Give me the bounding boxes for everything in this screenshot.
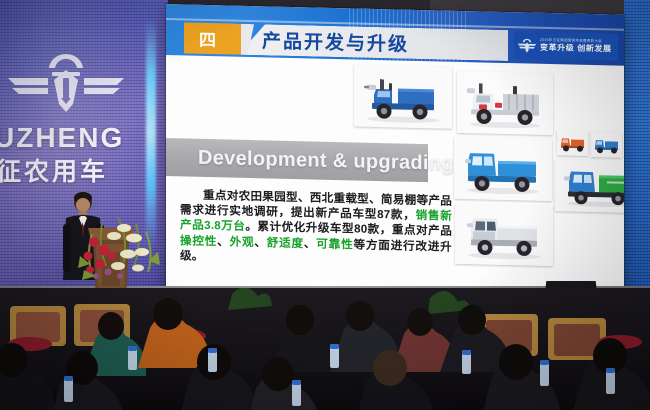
body-text-highlight: 舒适度	[267, 236, 304, 250]
banner-english-text: UZHENG	[0, 122, 124, 154]
right-led-panel	[624, 0, 650, 300]
wuzheng-wings-logo	[6, 52, 126, 114]
body-text-normal: 、	[304, 237, 316, 250]
photo-white-red-tanker-three-wheeler	[457, 71, 553, 135]
audience-silhouettes	[0, 288, 650, 410]
floral-arrangement	[72, 212, 164, 282]
body-text-highlight: 可靠性	[316, 237, 353, 251]
banner-chinese-text: 征农用车	[0, 152, 108, 188]
photo-blue-cab-cargo-three-wheeler	[454, 137, 552, 201]
eagle-wings-icon	[517, 37, 537, 53]
body-text-highlight: 外观	[230, 235, 255, 249]
photo-white-flatbed-three-wheeler	[455, 204, 553, 266]
body-text-normal: 、	[217, 235, 229, 248]
conference-photo: UZHENG 征农用车 四 产品开发与升级	[0, 0, 650, 410]
slide-content: 四 产品开发与升级 2016年五征集团营销年会暨表彰大会 变革升	[166, 4, 624, 307]
event-logo-texts: 2016年五征集团营销年会暨表彰大会 变革升级 创新发展	[540, 39, 612, 54]
body-text-highlight: 操控性	[180, 234, 217, 248]
photo-blue-dump-three-wheeler	[354, 64, 452, 128]
photo-blue-mini-truck-thumb	[591, 131, 622, 158]
section-number-chip: 四	[184, 22, 232, 54]
section-number-text: 四	[199, 26, 217, 51]
audience-seating-area	[0, 288, 650, 410]
projection-screen: 四 产品开发与升级 2016年五征集团营销年会暨表彰大会 变革升	[166, 4, 624, 307]
photo-green-dump-three-wheeler	[555, 159, 624, 213]
photo-orange-mini-truck-thumb	[557, 129, 588, 156]
event-logo: 2016年五征集团营销年会暨表彰大会 变革升级 创新发展	[514, 31, 618, 60]
product-photo-grid	[354, 64, 622, 270]
body-text-normal: 、	[254, 236, 266, 249]
slide-title: 产品开发与升级	[262, 26, 409, 56]
event-slogan: 变革升级 创新发展	[540, 44, 612, 54]
